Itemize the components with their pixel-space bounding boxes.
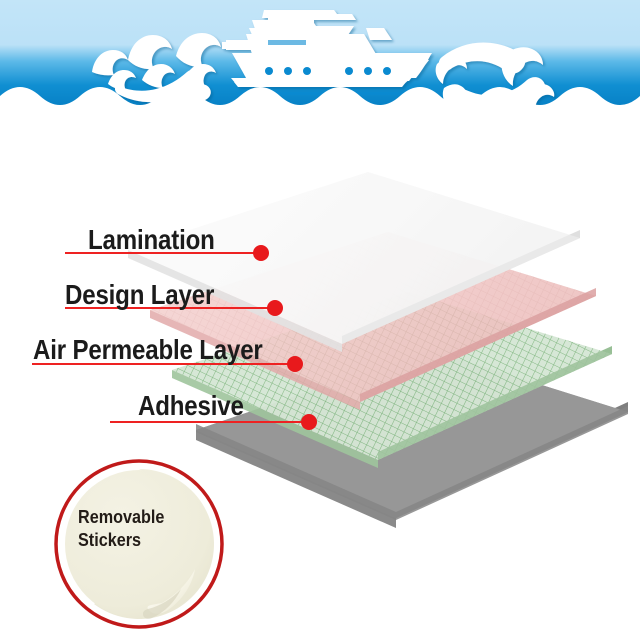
layer-label-adhesive: Adhesive xyxy=(138,390,244,422)
layer-label-design: Design Layer xyxy=(65,279,214,311)
callout-dot-adhesive xyxy=(301,414,317,430)
badge-text: Removable Stickers xyxy=(78,506,164,552)
badge-text-line1: Removable xyxy=(78,507,164,527)
callout-dot-design xyxy=(267,300,283,316)
callout-dot-lamination xyxy=(253,245,269,261)
badge-text-line2: Stickers xyxy=(78,530,141,550)
callout-dot-air-permeable xyxy=(287,356,303,372)
layer-label-lamination: Lamination xyxy=(88,224,215,256)
infographic-page: Lamination Design Layer Air Permeable La… xyxy=(0,0,640,640)
ocean-banner xyxy=(0,0,640,118)
layer-label-air-permeable: Air Permeable Layer xyxy=(33,334,263,366)
